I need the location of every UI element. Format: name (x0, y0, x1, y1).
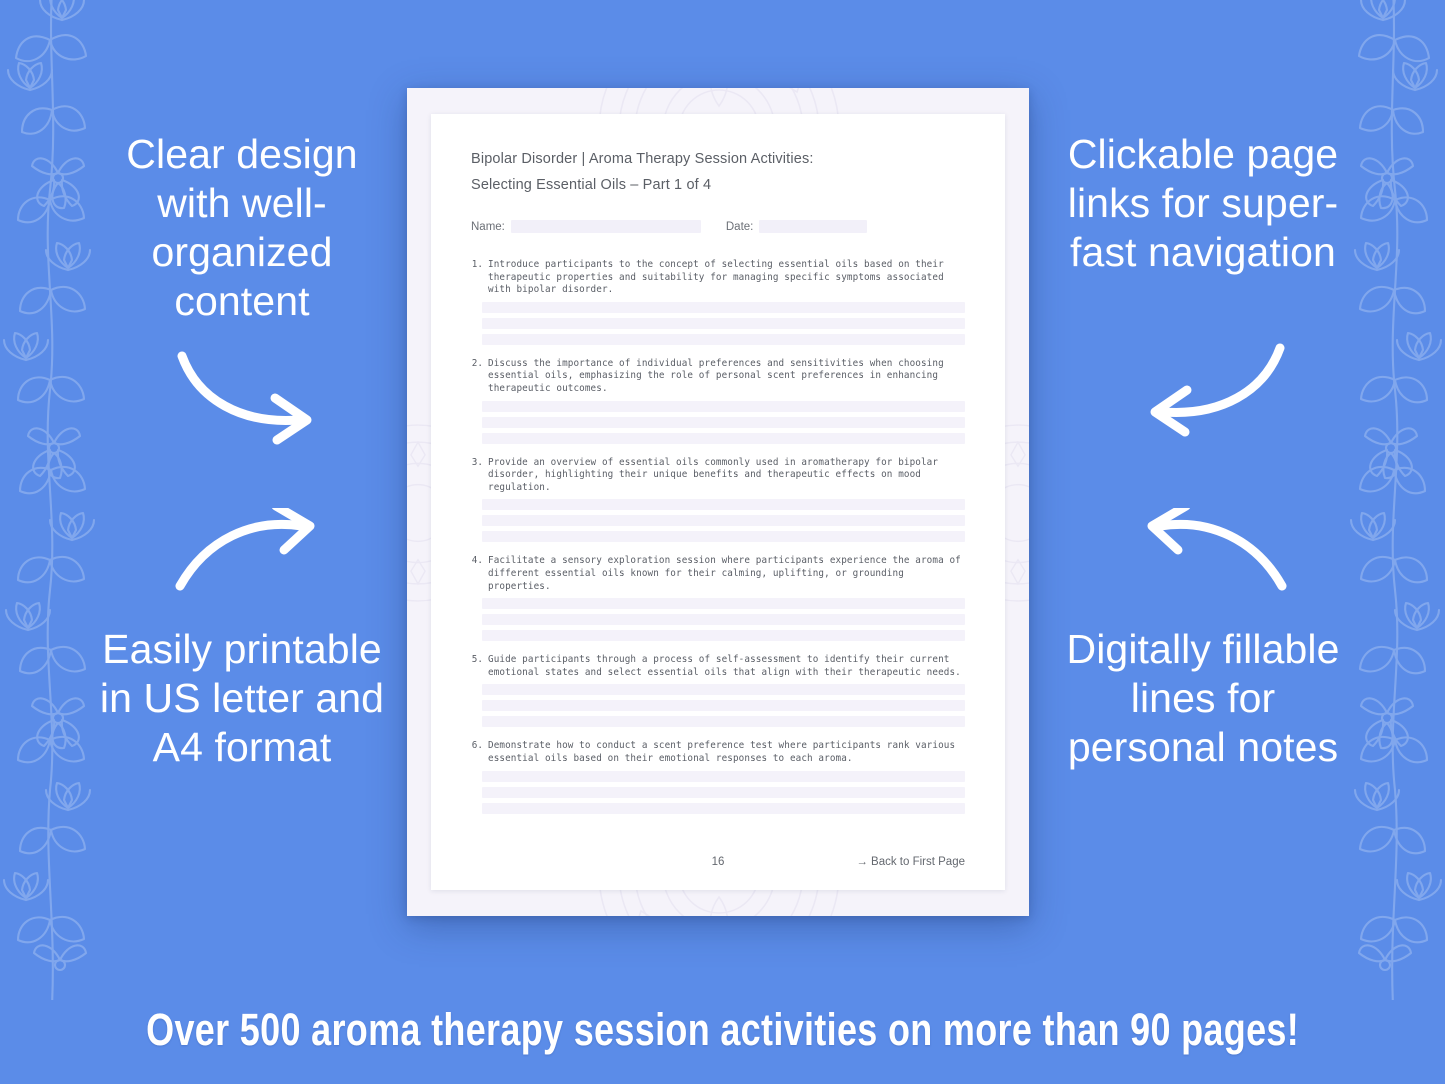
activity-item: 5.Guide participants through a process o… (471, 654, 965, 727)
activity-row: 6.Demonstrate how to conduct a scent pre… (471, 740, 965, 765)
curved-arrow-right-icon (172, 508, 337, 613)
fillable-line[interactable] (482, 433, 965, 444)
name-field[interactable] (511, 220, 701, 233)
page-number: 16 (712, 856, 725, 868)
fillable-line[interactable] (482, 684, 965, 695)
banner-text: Over 500 aroma therapy session activitie… (146, 1004, 1299, 1056)
activity-number: 5. (471, 654, 488, 679)
activity-number: 4. (471, 555, 488, 593)
fillable-line[interactable] (482, 700, 965, 711)
fillable-line[interactable] (482, 771, 965, 782)
activity-text: Provide an overview of essential oils co… (488, 457, 965, 495)
page-footer: 16 → Back to First Page (471, 856, 965, 868)
activity-row: 5.Guide participants through a process o… (471, 654, 965, 679)
activity-item: 4.Facilitate a sensory exploration sessi… (471, 555, 965, 641)
activity-text: Guide participants through a process of … (488, 654, 965, 679)
activity-item: 6.Demonstrate how to conduct a scent pre… (471, 740, 965, 813)
activity-list: 1.Introduce participants to the concept … (471, 259, 965, 814)
date-label: Date: (726, 221, 754, 233)
fillable-line[interactable] (482, 630, 965, 641)
activity-row: 2.Discuss the importance of individual p… (471, 358, 965, 396)
fillable-lines (471, 598, 965, 641)
promo-text-clear-design: Clear design with well-organized content (96, 130, 388, 326)
curved-arrow-right-icon (172, 348, 337, 453)
worksheet-page: Bipolar Disorder | Aroma Therapy Session… (431, 114, 1005, 890)
curved-arrow-left-icon (1125, 508, 1290, 613)
date-field[interactable] (759, 220, 867, 233)
fillable-line[interactable] (482, 401, 965, 412)
page-title: Bipolar Disorder | Aroma Therapy Session… (471, 146, 965, 198)
fillable-line[interactable] (482, 598, 965, 609)
activity-text: Facilitate a sensory exploration session… (488, 555, 965, 593)
activity-text: Discuss the importance of individual pre… (488, 358, 965, 396)
activity-number: 1. (471, 259, 488, 297)
fillable-lines (471, 499, 965, 542)
fillable-lines (471, 401, 965, 444)
promo-text-printable: Easily printable in US letter and A4 for… (92, 625, 392, 772)
activity-row: 3.Provide an overview of essential oils … (471, 457, 965, 495)
activity-number: 2. (471, 358, 488, 396)
promo-text-fillable-lines: Digitally fillable lines for personal no… (1053, 625, 1353, 772)
page-title-line-2: Selecting Essential Oils – Part 1 of 4 (471, 172, 965, 198)
promo-text-clickable-links: Clickable page links for super-fast navi… (1053, 130, 1353, 277)
activity-item: 2.Discuss the importance of individual p… (471, 358, 965, 444)
activity-item: 3.Provide an overview of essential oils … (471, 457, 965, 543)
fillable-lines (471, 684, 965, 727)
document-preview[interactable]: Bipolar Disorder | Aroma Therapy Session… (407, 88, 1029, 916)
fillable-line[interactable] (482, 803, 965, 814)
fillable-line[interactable] (482, 787, 965, 798)
name-date-row: Name: Date: (471, 220, 965, 233)
fillable-line[interactable] (482, 531, 965, 542)
fillable-line[interactable] (482, 614, 965, 625)
activity-text: Introduce participants to the concept of… (488, 259, 965, 297)
fillable-lines (471, 771, 965, 814)
fillable-line[interactable] (482, 302, 965, 313)
floral-vine-border-icon (1337, 0, 1445, 1000)
fillable-line[interactable] (482, 318, 965, 329)
activity-text: Demonstrate how to conduct a scent prefe… (488, 740, 965, 765)
curved-arrow-left-icon (1125, 340, 1290, 445)
floral-vine-border-icon (0, 0, 108, 1000)
page-title-line-1: Bipolar Disorder | Aroma Therapy Session… (471, 146, 965, 172)
bottom-banner: Over 500 aroma therapy session activitie… (0, 976, 1445, 1084)
activity-row: 1.Introduce participants to the concept … (471, 259, 965, 297)
activity-row: 4.Facilitate a sensory exploration sessi… (471, 555, 965, 593)
fillable-line[interactable] (482, 515, 965, 526)
fillable-line[interactable] (482, 334, 965, 345)
activity-item: 1.Introduce participants to the concept … (471, 259, 965, 345)
back-to-first-page-link[interactable]: → Back to First Page (856, 856, 965, 868)
activity-number: 6. (471, 740, 488, 765)
fillable-line[interactable] (482, 499, 965, 510)
activity-number: 3. (471, 457, 488, 495)
fillable-line[interactable] (482, 716, 965, 727)
fillable-line[interactable] (482, 417, 965, 428)
name-label: Name: (471, 221, 505, 233)
fillable-lines (471, 302, 965, 345)
